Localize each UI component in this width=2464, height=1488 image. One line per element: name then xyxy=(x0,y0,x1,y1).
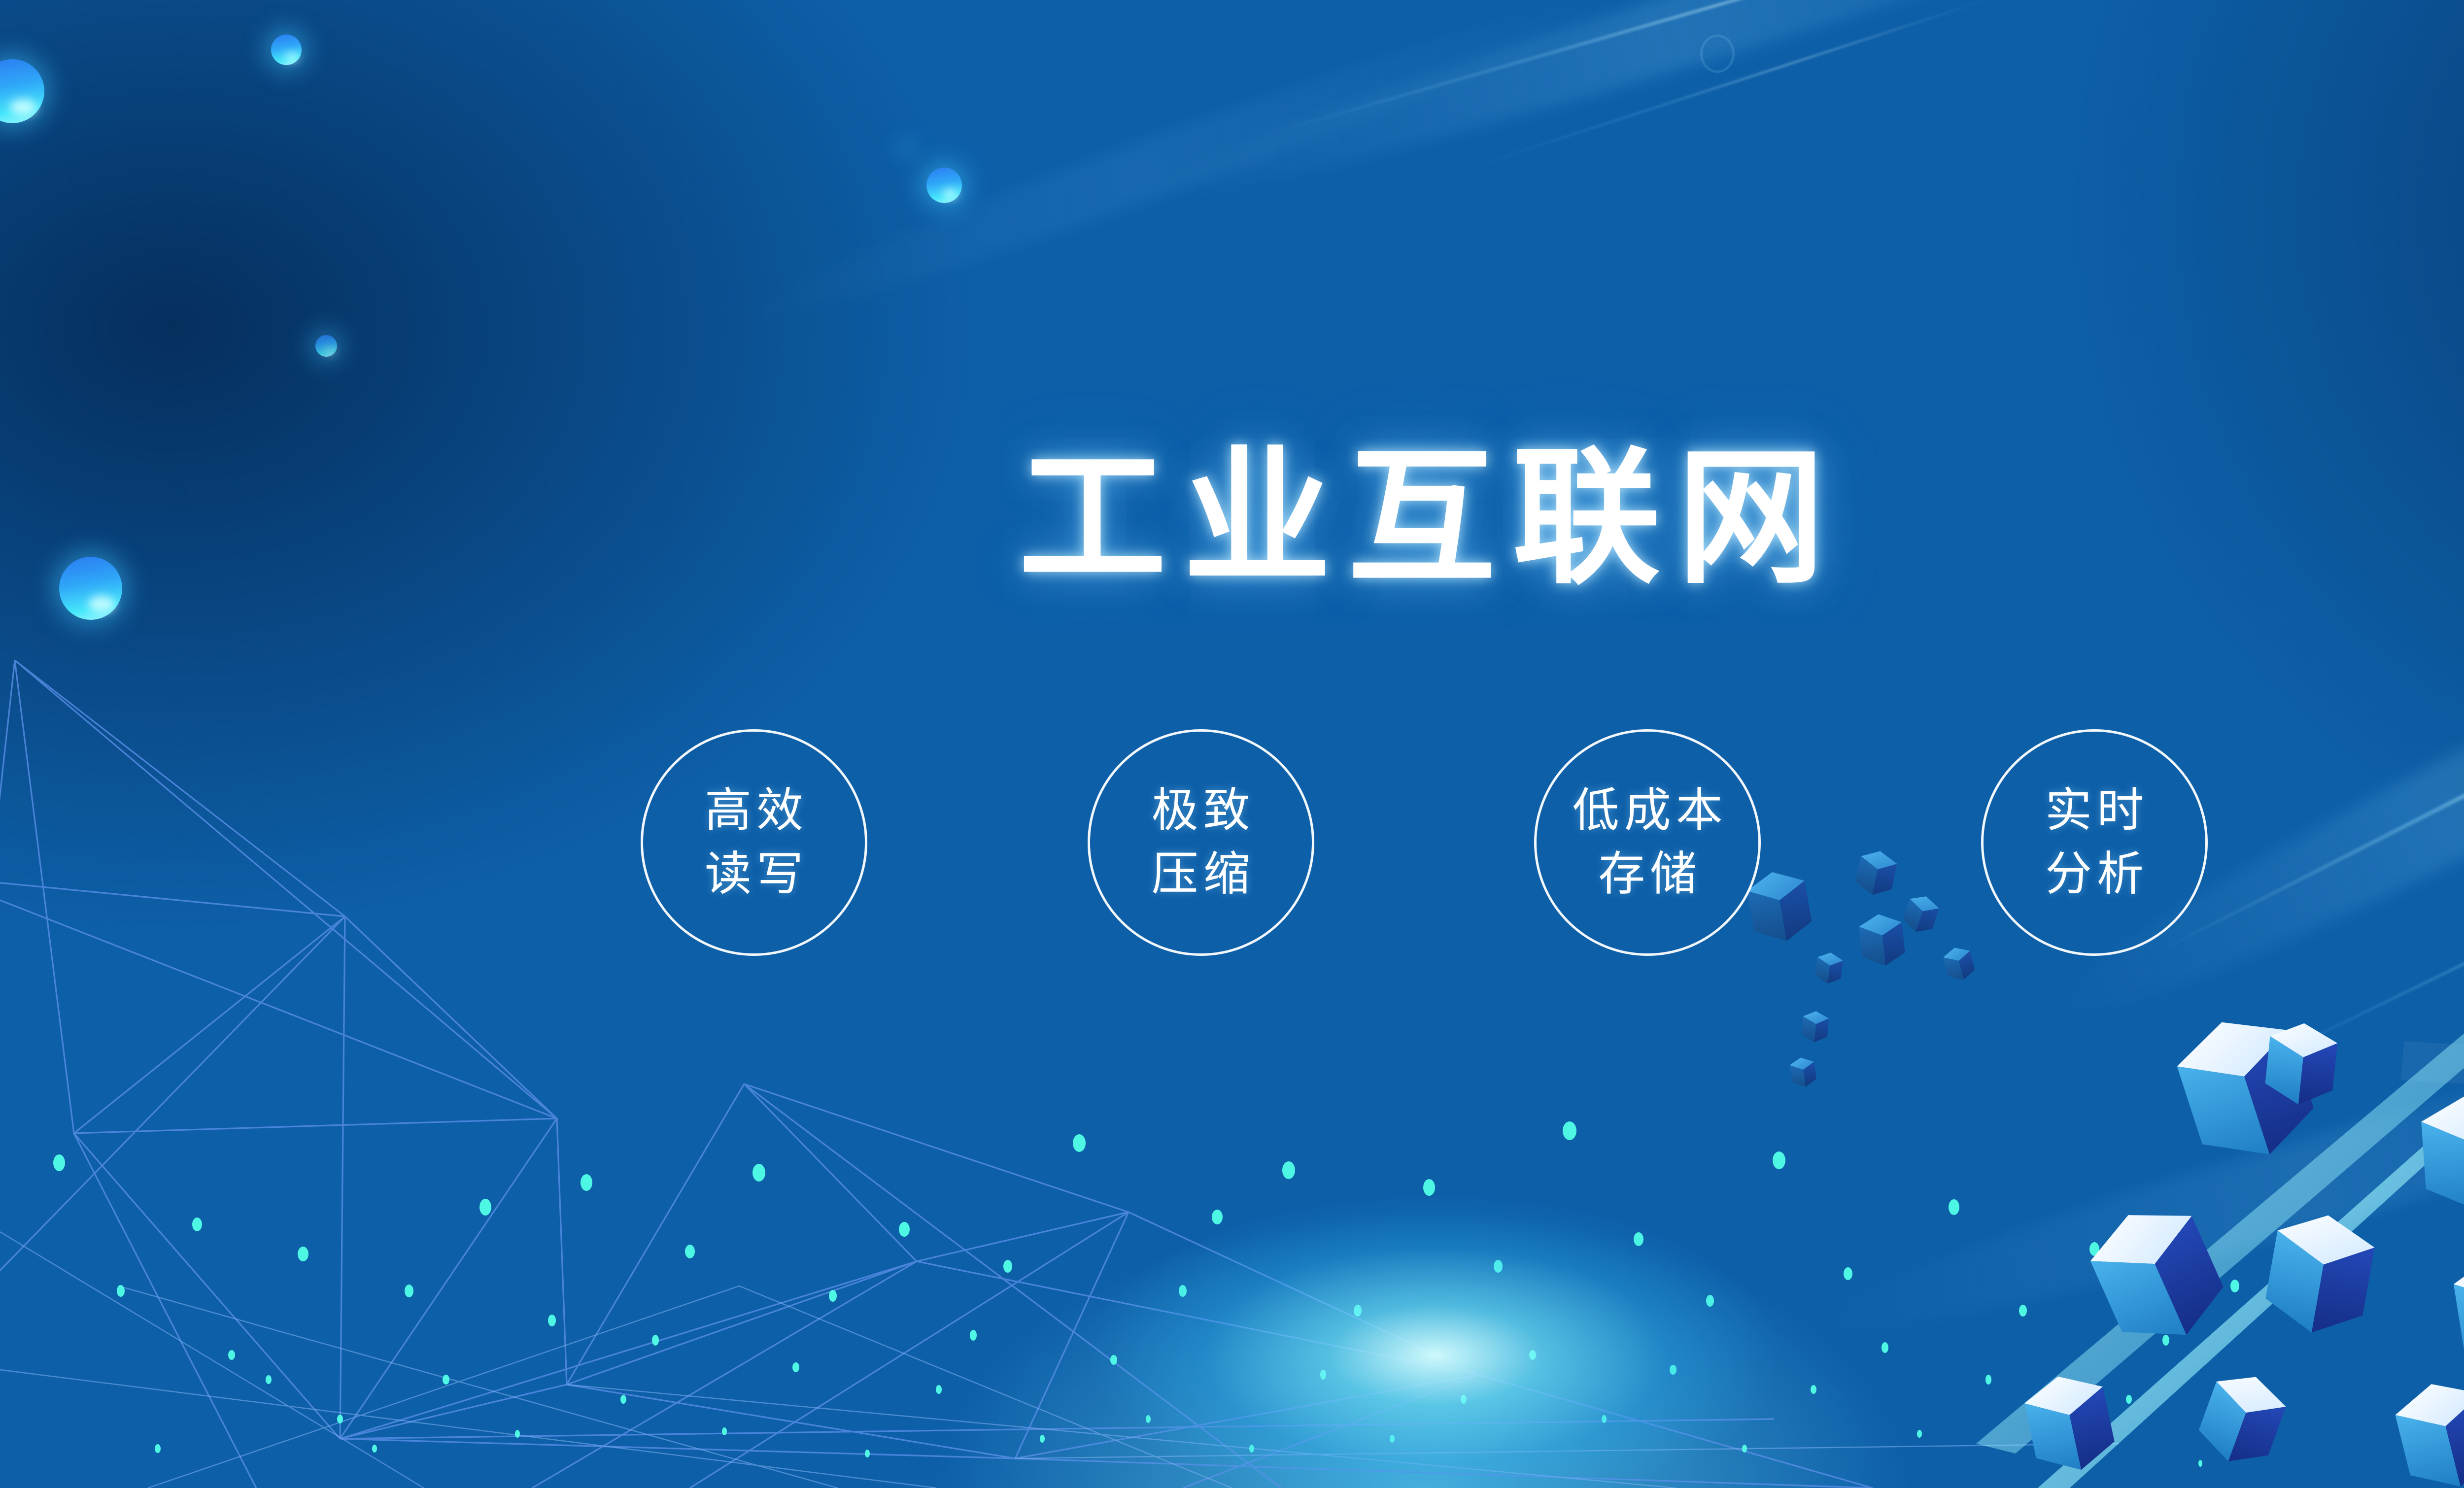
feature-line-1: 实时 xyxy=(2040,787,2149,834)
feature-line-1: 低成本 xyxy=(1568,787,1728,834)
bokeh-orb xyxy=(271,34,302,65)
feature-circle-low-cost-storage[interactable]: 低成本 存储 xyxy=(1534,729,1761,956)
feature-line-2: 存储 xyxy=(1593,851,1702,898)
feature-circle-extreme-compression[interactable]: 极致 压缩 xyxy=(1088,729,1314,956)
feature-line-2: 分析 xyxy=(2040,851,2149,898)
feature-line-2: 读写 xyxy=(700,851,808,898)
page-title: 工业互联网 xyxy=(0,444,2464,592)
feature-line-2: 压缩 xyxy=(1147,851,1255,898)
bokeh-orb xyxy=(315,335,337,357)
feature-line-1: 高效 xyxy=(700,787,808,834)
feature-circle-efficient-rw[interactable]: 高效 读写 xyxy=(641,729,867,956)
banner-stage: 工业互联网 高效 读写 极致 压缩 低成本 存储 实时 分析 xyxy=(0,0,2464,1488)
feature-circle-group: 高效 读写 极致 压缩 低成本 存储 实时 分析 xyxy=(641,729,2208,961)
bokeh-orb xyxy=(926,168,962,203)
feature-circle-realtime-analysis[interactable]: 实时 分析 xyxy=(1981,729,2208,956)
ring-outline-icon xyxy=(1700,34,1735,73)
feature-line-1: 极致 xyxy=(1147,787,1255,834)
